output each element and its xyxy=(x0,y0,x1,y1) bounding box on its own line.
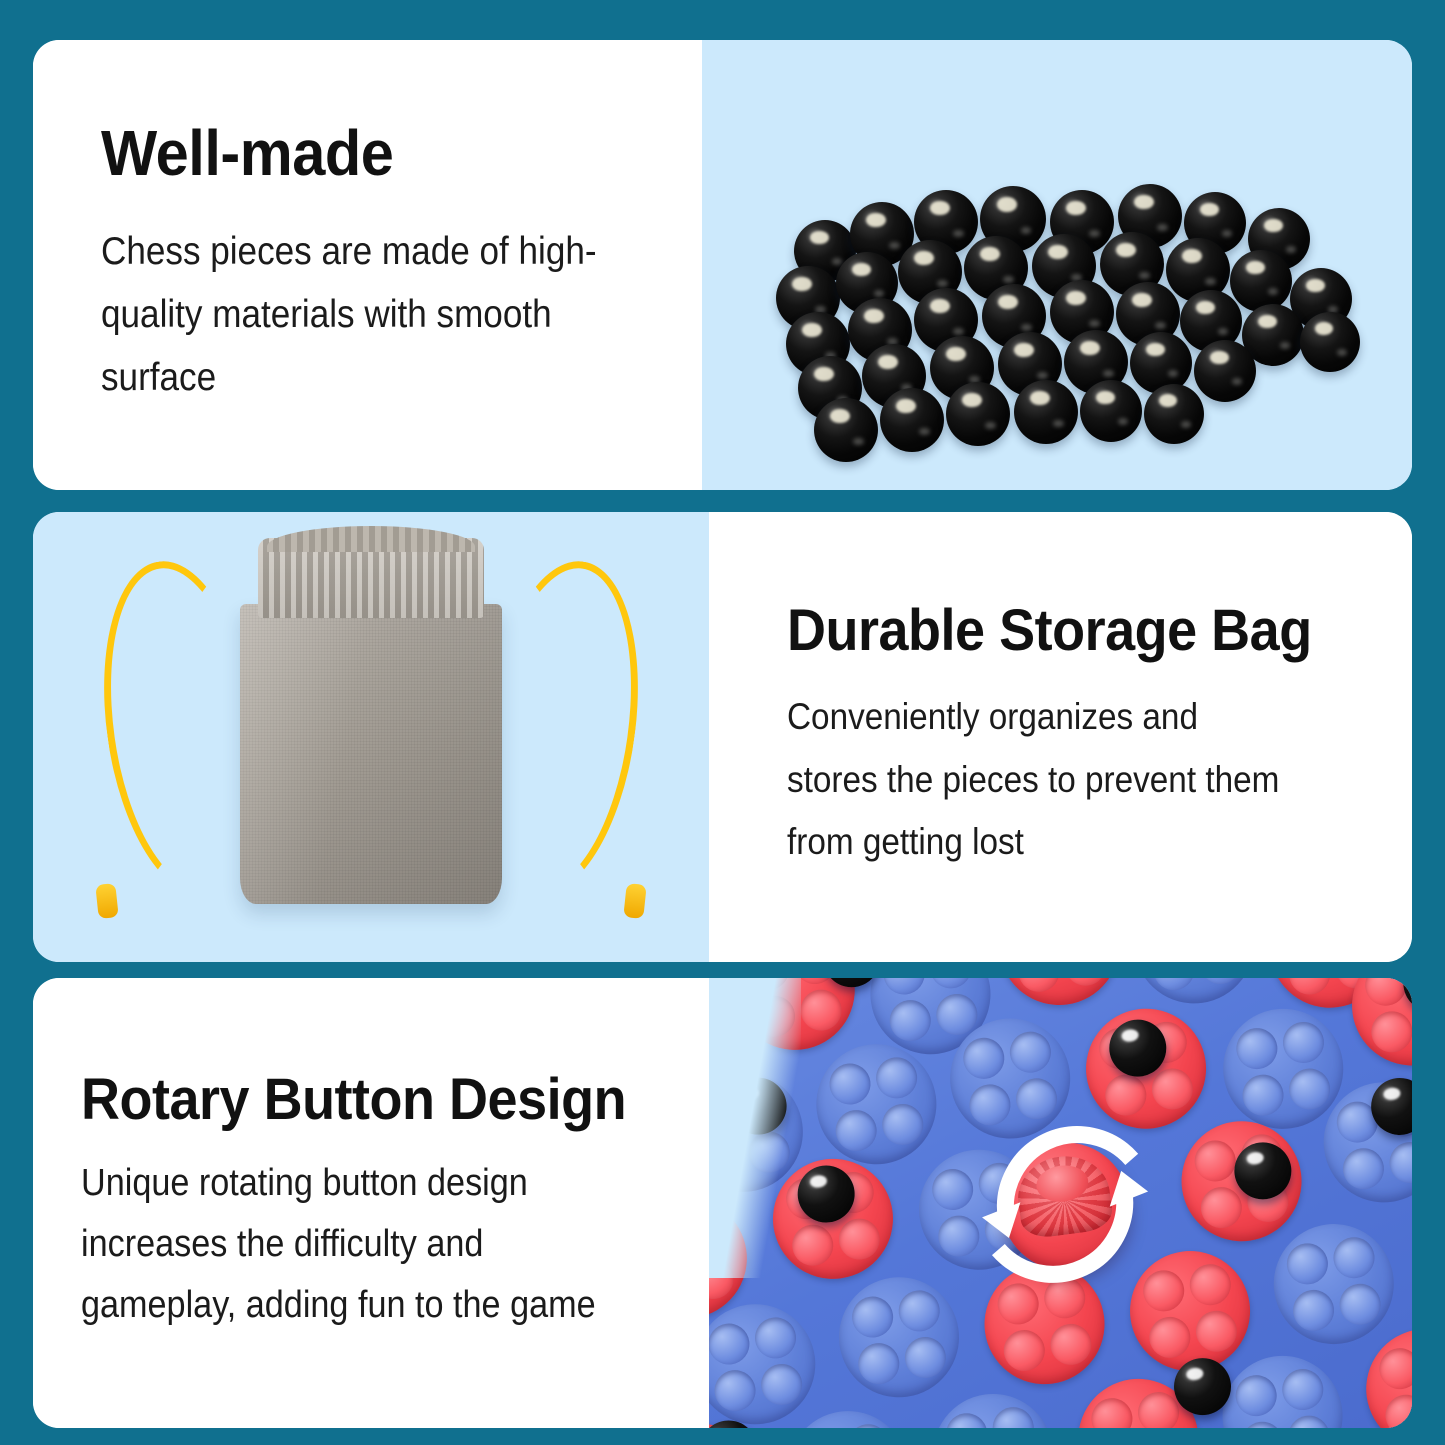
panel-2-headline: Durable Storage Bag xyxy=(787,601,1313,660)
panel-1-headline: Well-made xyxy=(101,121,623,186)
panel-1-body: Chess pieces are made of high-quality ma… xyxy=(101,220,606,410)
storage-bag-photo xyxy=(33,512,709,962)
game-board-plate xyxy=(709,978,1412,1428)
product-feature-infographic: Well-made Chess pieces are made of high-… xyxy=(0,0,1445,1445)
game-board-photo xyxy=(709,978,1412,1428)
panel-2-image-half xyxy=(33,512,709,962)
feature-panel-well-made: Well-made Chess pieces are made of high-… xyxy=(33,40,1412,490)
panel-3-headline: Rotary Button Design xyxy=(81,1070,628,1129)
panel-2-text-half: Durable Storage Bag Conveniently organiz… xyxy=(709,512,1412,962)
feature-panel-rotary-button-design: Rotary Button Design Unique rotating but… xyxy=(33,978,1412,1428)
marbles-photo xyxy=(702,40,1412,490)
rotary-knob-cap xyxy=(1013,1151,1114,1240)
panel-1-image-half xyxy=(702,40,1412,490)
bag-top-frill xyxy=(267,526,475,552)
cord-knot-left xyxy=(95,883,118,919)
panel-3-image-half xyxy=(709,978,1412,1428)
cord-knot-right xyxy=(623,883,646,919)
panel-3-text-half: Rotary Button Design Unique rotating but… xyxy=(33,978,709,1428)
panel-3-body: Unique rotating button design increases … xyxy=(81,1153,610,1335)
feature-panel-durable-storage-bag: Durable Storage Bag Conveniently organiz… xyxy=(33,512,1412,962)
bag-body xyxy=(240,604,502,904)
panel-1-text-half: Well-made Chess pieces are made of high-… xyxy=(33,40,702,490)
board-left-background-wedge xyxy=(709,978,801,1278)
panel-2-body: Conveniently organizes and stores the pi… xyxy=(787,686,1296,872)
